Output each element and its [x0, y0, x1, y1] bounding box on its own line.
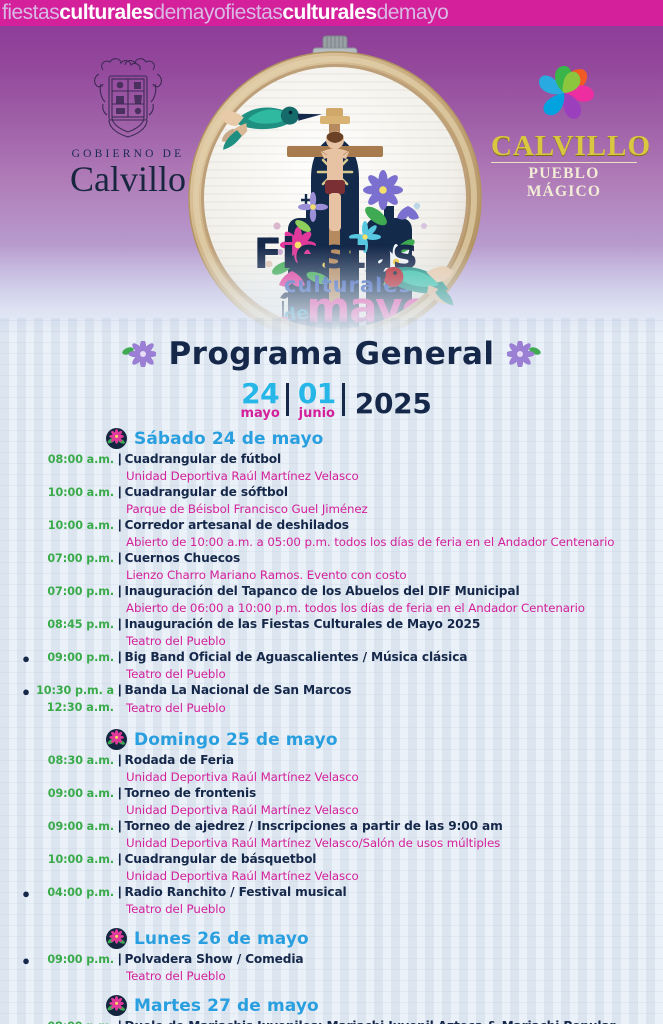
event-time: 07:00 p.m.	[34, 550, 118, 567]
marquee-segment: demayo	[377, 1, 449, 24]
event-title: Inauguración de las Fiestas Culturales d…	[125, 616, 481, 633]
event-time: 08:00 p.m.	[34, 1018, 118, 1024]
day-title: Martes 27 de mayo	[134, 996, 319, 1016]
event-body: |Torneo de ajedrez / Inscripciones a par…	[118, 818, 649, 851]
event-time: 10:00 a.m.	[34, 517, 118, 534]
event-body: |Polvadera Show / ComediaTeatro del Pueb…	[118, 951, 649, 984]
event-time: 07:00 p.m.	[34, 583, 118, 600]
event-venue: Lienzo Charro Mariano Ramos. Evento con …	[118, 567, 649, 583]
schedule-event[interactable]: 10:00 a.m.|Cuadrangular de básquetbolUni…	[18, 851, 649, 884]
schedule-event[interactable]: ●04:00 p.m.|Radio Ranchito / Festival mu…	[18, 884, 649, 917]
event-venue: Parque de Béisbol Francisco Guel Jiménez	[118, 501, 649, 517]
schedule-event[interactable]: 08:00 a.m.|Cuadrangular de fútbolUnidad …	[18, 451, 649, 484]
event-bullet-icon: ●	[18, 649, 34, 667]
event-bullet-icon: ●	[18, 951, 34, 969]
event-title-line: |Big Band Oficial de Aguascalientes / Mú…	[118, 649, 649, 666]
schedule-event[interactable]: ●10:30 p.m. a|Banda La Nacional de San M…	[18, 682, 649, 700]
event-title: Duelo de Mariachis Juveniles: Mariachi J…	[125, 1018, 650, 1024]
event-body: |Rodada de FeriaUnidad Deportiva Raúl Ma…	[118, 752, 649, 785]
date-end: 01 junio	[289, 380, 345, 420]
event-venue: Teatro del Pueblo	[118, 633, 649, 649]
pueblo-magico-name: CALVILLO	[491, 131, 637, 161]
flower-ornament-icon	[122, 341, 156, 367]
pueblo-magico-logo: CALVILLO PUEBLO MÁGICO	[491, 59, 637, 201]
pinwheel-logo-icon	[530, 59, 598, 127]
schedule-event[interactable]: ●09:00 p.m.|Polvadera Show / ComediaTeat…	[18, 951, 649, 984]
flower-badge-icon	[106, 995, 127, 1016]
event-bullet-icon	[18, 785, 34, 786]
day-header: Domingo 25 de mayo	[106, 729, 649, 750]
event-title-line: |Inauguración del Tapanco de los Abuelos…	[118, 583, 649, 600]
event-body: |Cuadrangular de fútbolUnidad Deportiva …	[118, 451, 649, 484]
schedule-event[interactable]: 08:30 a.m.|Rodada de FeriaUnidad Deporti…	[18, 752, 649, 785]
schedule-event[interactable]: 10:00 a.m.|Cuadrangular de sóftbolParque…	[18, 484, 649, 517]
event-title: Big Band Oficial de Aguascalientes / Mús…	[125, 649, 468, 666]
marquee-text: fiestasculturalesdemayofiestasculturales…	[0, 0, 448, 26]
event-body: |Radio Ranchito / Festival musicalTeatro…	[118, 884, 649, 917]
event-venue: Unidad Deportiva Raúl Martínez Velasco/S…	[118, 835, 649, 851]
title-row: Programa General	[0, 336, 663, 372]
event-title-line: |Polvadera Show / Comedia	[118, 951, 649, 968]
date-end-month: junio	[298, 407, 336, 420]
event-title: Cuadrangular de fútbol	[125, 451, 282, 468]
event-bullet-icon	[18, 818, 34, 819]
event-title: Cuernos Chuecos	[125, 550, 241, 567]
event-bullet-icon: ●	[18, 682, 34, 700]
event-body: |Big Band Oficial de Aguascalientes / Mú…	[118, 649, 649, 682]
event-time: 10:00 a.m.	[34, 851, 118, 868]
flower-ornament-icon	[507, 341, 541, 367]
marquee-segment: fiestas	[225, 1, 282, 24]
event-bullet-icon	[18, 517, 34, 518]
event-bullet-icon	[18, 583, 34, 584]
day-header: Sábado 24 de mayo	[106, 428, 649, 449]
schedule-event[interactable]: 10:00 a.m.|Corredor artesanal de deshila…	[18, 517, 649, 550]
programa-title-block: Programa General 24 mayo 01	[0, 336, 663, 420]
event-venue: Unidad Deportiva Raúl Martínez Velasco	[118, 802, 649, 818]
schedule-event[interactable]: ●09:00 p.m.|Big Band Oficial de Aguascal…	[18, 649, 649, 682]
event-time: 08:30 a.m.	[34, 752, 118, 769]
day-header: Lunes 26 de mayo	[106, 928, 649, 949]
event-venue: Unidad Deportiva Raúl Martínez Velasco	[118, 868, 649, 884]
event-time: 04:00 p.m.	[34, 884, 118, 901]
event-title-line: |Cuadrangular de fútbol	[118, 451, 649, 468]
day-spacer	[18, 917, 649, 928]
event-time: 09:00 p.m.	[34, 951, 118, 968]
day-title: Sábado 24 de mayo	[134, 429, 323, 449]
schedule-event[interactable]: 07:00 p.m.|Inauguración del Tapanco de l…	[18, 583, 649, 616]
day-spacer	[18, 718, 649, 729]
pueblo-magico-subtitle: PUEBLO MÁGICO	[491, 162, 637, 201]
event-time: 09:00 a.m.	[34, 785, 118, 802]
event-venue: Teatro del Pueblo	[118, 901, 649, 917]
event-bullet-icon	[18, 851, 34, 852]
event-body: |Cuadrangular de básquetbolUnidad Deport…	[118, 851, 649, 884]
schedule-event[interactable]: 07:00 p.m.|Cuernos ChuecosLienzo Charro …	[18, 550, 649, 583]
event-body: |Cuernos ChuecosLienzo Charro Mariano Ra…	[118, 550, 649, 583]
page-title: Programa General	[168, 336, 494, 372]
embroidery-hoop-artwork: Fiestas culturales de mayo CALVILLO	[170, 30, 500, 336]
poster-root: fiestasculturalesdemayofiestasculturales…	[0, 0, 663, 1024]
date-range: 24 mayo 01 junio 2025	[0, 380, 663, 420]
date-start: 24 mayo	[231, 380, 288, 420]
marquee-segment: demayo	[153, 1, 225, 24]
event-title: Polvadera Show / Comedia	[125, 951, 304, 968]
event-body: |Inauguración de las Fiestas Culturales …	[118, 616, 649, 649]
schedule-list: Sábado 24 de mayo08:00 a.m.|Cuadrangular…	[0, 428, 663, 1024]
date-year: 2025	[345, 387, 432, 420]
event-title: Torneo de frontenis	[125, 785, 257, 802]
event-title-line: |Torneo de frontenis	[118, 785, 649, 802]
event-title-line: |Cuadrangular de básquetbol	[118, 851, 649, 868]
event-venue: Unidad Deportiva Raúl Martínez Velasco	[118, 769, 649, 785]
event-title-line: |Torneo de ajedrez / Inscripciones a par…	[118, 818, 649, 835]
event-title: Inauguración del Tapanco de los Abuelos …	[125, 583, 520, 600]
embroidery-hoop-icon: Fiestas culturales de mayo CALVILLO	[170, 30, 500, 336]
marquee-segment: fiestas	[2, 1, 59, 24]
event-bullet-icon: ●	[18, 884, 34, 902]
schedule-event[interactable]: 09:00 a.m.|Torneo de frontenisUnidad Dep…	[18, 785, 649, 818]
day-title: Domingo 25 de mayo	[134, 730, 338, 750]
event-title-line: |Cuadrangular de sóftbol	[118, 484, 649, 501]
event-venue: Abierto de 10:00 a.m. a 05:00 p.m. todos…	[118, 534, 649, 550]
schedule-event[interactable]: 09:00 a.m.|Torneo de ajedrez / Inscripci…	[18, 818, 649, 851]
event-venue: Unidad Deportiva Raúl Martínez Velasco	[118, 468, 649, 484]
day-spacer	[18, 984, 649, 995]
marquee-segment: culturales	[282, 1, 376, 24]
event-title: Radio Ranchito / Festival musical	[125, 884, 347, 901]
event-body: |Inauguración del Tapanco de los Abuelos…	[118, 583, 649, 616]
event-title: Cuadrangular de sóftbol	[125, 484, 288, 501]
event-title-line: |Radio Ranchito / Festival musical	[118, 884, 649, 901]
event-title: Torneo de ajedrez / Inscripciones a part…	[125, 818, 503, 835]
event-body: |Cuadrangular de sóftbolParque de Béisbo…	[118, 484, 649, 517]
marquee-segment: culturales	[59, 1, 153, 24]
hero-banner: GOBIERNO DE Calvillo	[0, 26, 663, 336]
event-title-line: |Duelo de Mariachis Juveniles: Mariachi …	[118, 1018, 649, 1024]
event-time-end: 12:30 a.m.	[34, 700, 118, 716]
day-title: Lunes 26 de mayo	[134, 929, 309, 949]
event-title-line: |Inauguración de las Fiestas Culturales …	[118, 616, 649, 633]
flower-badge-icon	[106, 428, 127, 449]
coat-of-arms-icon	[89, 54, 167, 140]
event-body: |Banda La Nacional de San Marcos	[118, 682, 649, 699]
event-time: 08:00 a.m.	[34, 451, 118, 468]
event-bullet-icon	[18, 550, 34, 551]
event-time: 10:30 p.m. a	[34, 682, 118, 699]
flower-badge-icon	[106, 729, 127, 750]
event-venue: Teatro del Pueblo	[118, 700, 226, 716]
event-bullet-icon	[18, 616, 34, 617]
event-title-line: |Banda La Nacional de San Marcos	[118, 682, 649, 699]
event-bullet-icon	[18, 752, 34, 753]
schedule-event[interactable]: ●08:00 p.m.|Duelo de Mariachis Juveniles…	[18, 1018, 649, 1024]
event-body: |Torneo de frontenisUnidad Deportiva Raú…	[118, 785, 649, 818]
event-title: Rodada de Feria	[125, 752, 234, 769]
event-title: Corredor artesanal de deshilados	[125, 517, 349, 534]
event-bullet-icon	[18, 484, 34, 485]
date-end-day: 01	[298, 380, 336, 408]
event-time: 08:45 p.m.	[34, 616, 118, 633]
event-title: Banda La Nacional de San Marcos	[125, 682, 352, 699]
day-header: Martes 27 de mayo	[106, 995, 649, 1016]
event-title-line: |Corredor artesanal de deshilados	[118, 517, 649, 534]
event-bullet-icon: ●	[18, 1018, 34, 1024]
event-title-line: |Rodada de Feria	[118, 752, 649, 769]
event-venue: Abierto de 06:00 a 10:00 p.m. todos los …	[118, 600, 649, 616]
event-body: |Duelo de Mariachis Juveniles: Mariachi …	[118, 1018, 649, 1024]
event-venue: Teatro del Pueblo	[118, 666, 649, 682]
date-start-month: mayo	[240, 407, 279, 420]
event-venue: Teatro del Pueblo	[118, 968, 649, 984]
event-time: 09:00 a.m.	[34, 818, 118, 835]
event-body: |Corredor artesanal de deshiladosAbierto…	[118, 517, 649, 550]
event-continuation-row: ●12:30 a.m.Teatro del Pueblo	[18, 700, 649, 718]
schedule-event[interactable]: 08:45 p.m.|Inauguración de las Fiestas C…	[18, 616, 649, 649]
event-time: 09:00 p.m.	[34, 649, 118, 666]
event-bullet-icon	[18, 451, 34, 452]
event-title-line: |Cuernos Chuecos	[118, 550, 649, 567]
event-title: Cuadrangular de básquetbol	[125, 851, 317, 868]
event-time: 10:00 a.m.	[34, 484, 118, 501]
flower-badge-icon	[106, 928, 127, 949]
date-start-day: 24	[240, 380, 279, 408]
top-marquee-banner: fiestasculturalesdemayofiestasculturales…	[0, 0, 663, 26]
